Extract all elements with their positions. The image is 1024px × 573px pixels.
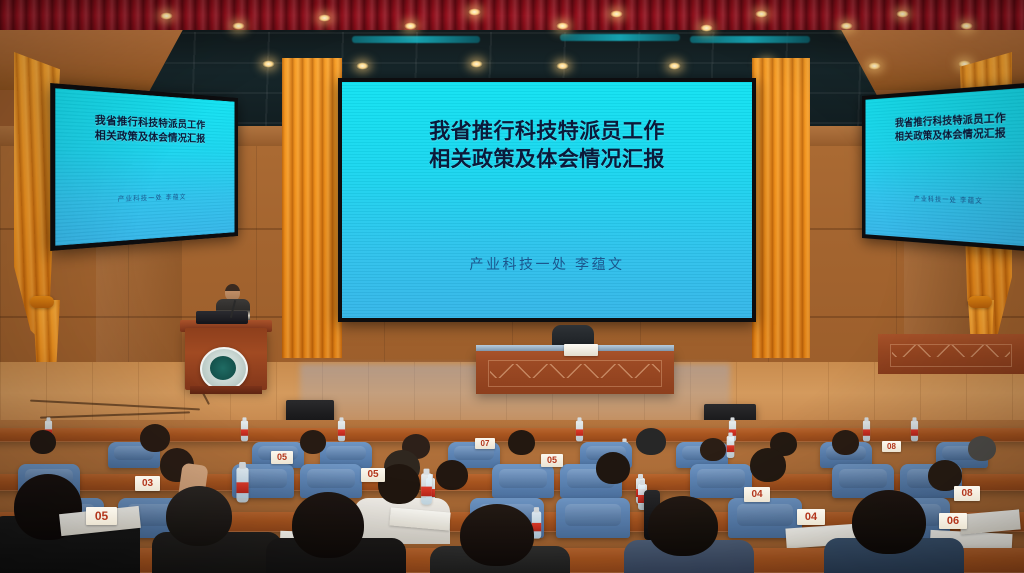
ceiling-downlight [470,60,483,68]
seat-number-placard: 05 [86,507,117,525]
audience-head [292,492,364,558]
institutional-emblem [200,347,248,391]
seat-number-placard: 05 [271,451,293,464]
ceiling-downlight [468,8,481,16]
curtain-tieback [968,296,992,308]
main-screen-surface: 我省推行科技特派员工作 相关政策及体会情况汇报 产业科技一处 李蕴文 [342,82,752,318]
ceiling-downlight [160,12,173,20]
ceiling-downlight [318,14,331,22]
audience-head [750,448,786,482]
main-led-screen: 我省推行科技特派员工作 相关政策及体会情况汇报 产业科技一处 李蕴文 [338,78,756,322]
ceiling-downlight [700,24,713,32]
seat-number-placard: 06 [939,513,967,529]
left-screen-title: 我省推行科技特派员工作 相关政策及体会情况汇报 [55,112,234,147]
right-screen-subtitle: 产业科技一处 李蕴文 [865,192,1024,208]
audience-area [0,420,1024,573]
seat-number-placard: 03 [135,476,160,491]
audience-head [30,430,56,454]
water-bottle [421,473,432,504]
water-bottle [863,421,870,442]
seat-number-placard: 07 [475,438,495,449]
main-screen-title: 我省推行科技特派员工作 相关政策及体会情况汇报 [342,118,752,174]
audience-seat[interactable] [492,464,554,498]
right-screen-title: 我省推行科技特派员工作 相关政策及体会情况汇报 [865,110,1024,145]
audience-head [140,424,170,452]
stage-curtain-right-inner [752,58,810,358]
ceiling-teal-light [690,36,810,43]
audience-head [596,452,630,484]
main-screen-title-line1: 我省推行科技特派员工作 [342,118,752,146]
head-table [476,350,674,394]
ceiling-downlight [960,22,973,30]
seat-number-placard: 05 [361,468,385,482]
audience-head [832,430,859,455]
ceiling-downlight [755,10,768,18]
water-bottle [338,421,345,442]
seat-number-placard: 04 [744,487,770,502]
audience-head [436,460,468,490]
audience-head [648,496,718,556]
ceiling-teal-light [352,36,480,43]
podium-base [190,386,262,394]
side-table-chevron-trim [892,345,1010,357]
audience-seat[interactable] [556,498,630,538]
ceiling-downlight [896,10,909,18]
ceiling-downlight [356,62,369,70]
left-led-screen: 我省推行科技特派员工作 相关政策及体会情况汇报 产业科技一处 李蕴文 [50,83,238,251]
audience-head [968,436,996,461]
right-led-screen: 我省推行科技特派员工作 相关政策及体会情况汇报 产业科技一处 李蕴文 [862,81,1024,253]
head-table-chevron-trim [490,364,660,378]
seat-number-placard: 08 [954,486,980,501]
curtain-tieback [30,296,54,308]
seat-number-placard: 05 [541,454,563,467]
ceiling-downlight [232,22,245,30]
ceiling-downlight [868,62,881,70]
audience-head [700,438,726,461]
ceiling-downlight [668,62,681,70]
left-screen-subtitle: 产业科技一处 李蕴文 [55,190,234,206]
ceiling-downlight [840,22,853,30]
auditorium-scene: 我省推行科技特派员工作 相关政策及体会情况汇报 产业科技一处 李蕴文 我省推行科… [0,0,1024,573]
ceiling-downlight [404,22,417,30]
main-screen-title-line2: 相关政策及体会情况汇报 [342,146,752,174]
audience-head [166,486,232,546]
podium-laptop [196,311,248,324]
seat-number-placard: 08 [882,441,901,452]
water-bottle [727,436,735,458]
water-bottle [241,421,248,442]
side-table-right [878,334,1024,374]
audience-head [300,430,326,454]
ceiling-downlight [610,10,623,18]
ceiling-downlight [556,62,569,70]
ceiling-teal-light [560,34,680,41]
audience-seat[interactable] [690,464,752,498]
seat-number-placard: 04 [797,509,825,525]
audience-head [636,428,666,455]
stage-curtain-left-inner [282,58,342,358]
name-card [564,344,598,356]
left-screen-surface: 我省推行科技特派员工作 相关政策及体会情况汇报 产业科技一处 李蕴文 [55,88,234,245]
audience-head [852,490,926,554]
audience-head [460,504,534,566]
water-bottle [911,421,918,442]
ceiling-downlight [556,22,569,30]
ceiling-red-curtain [0,0,1024,34]
audience-head [508,430,535,455]
water-bottle [576,421,583,442]
main-screen-subtitle: 产业科技一处 李蕴文 [342,254,752,274]
right-screen-surface: 我省推行科技特派员工作 相关政策及体会情况汇报 产业科技一处 李蕴文 [865,86,1024,247]
water-bottle [236,467,248,502]
ceiling-downlight [262,60,275,68]
